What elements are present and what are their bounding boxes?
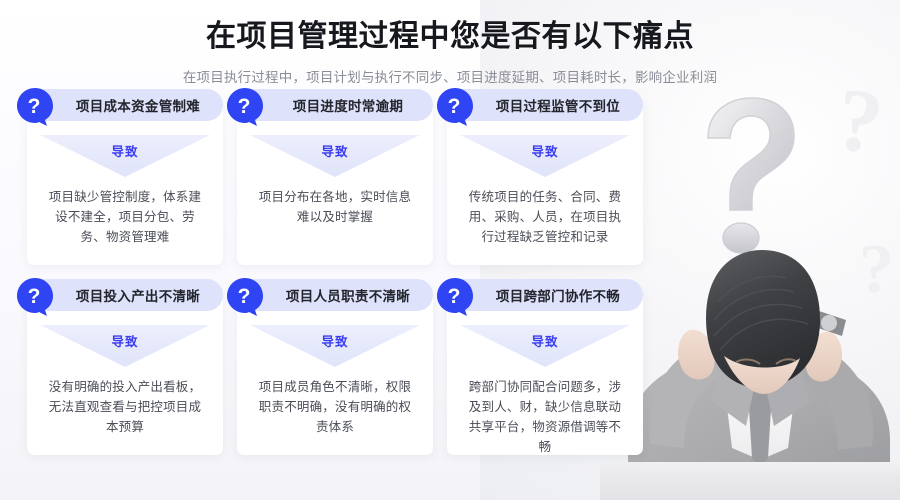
cause-connector: 导致 bbox=[460, 325, 630, 367]
card-body-text: 项目分布在各地，实时信息难以及时掌握 bbox=[253, 187, 417, 227]
page-subtitle: 在项目执行过程中，项目计划与执行不同步、项目进度延期、项目耗时长，影响企业利润 bbox=[0, 66, 900, 86]
cause-connector: 导致 bbox=[250, 135, 420, 177]
card-body-text: 跨部门协同配合问题多，涉及到人、财，缺少信息联动共享平台，物资源借调等不畅 bbox=[463, 377, 627, 457]
question-mark-bubble-icon: ? bbox=[224, 275, 266, 317]
card-title: 项目成本资金管制难 bbox=[27, 89, 223, 121]
header: 在项目管理过程中您是否有以下痛点 在项目执行过程中，项目计划与执行不同步、项目进… bbox=[0, 0, 900, 86]
page-title: 在项目管理过程中您是否有以下痛点 bbox=[0, 11, 900, 55]
card-header: 项目过程监管不到位 ? bbox=[434, 89, 643, 123]
card-body-text: 传统项目的任务、合同、费用、采购、人员，在项目执行过程缺乏管控和记录 bbox=[463, 187, 627, 247]
cause-connector: 导致 bbox=[250, 325, 420, 367]
cause-connector: 导致 bbox=[40, 135, 210, 177]
question-mark-bubble-icon: ? bbox=[434, 85, 476, 127]
cause-label: 导致 bbox=[250, 331, 420, 350]
card-body-text: 没有明确的投入产出看板，无法直观查看与把控项目成本预算 bbox=[43, 377, 207, 437]
card-title: 项目过程监管不到位 bbox=[447, 89, 643, 121]
question-mark-bubble-icon: ? bbox=[14, 85, 56, 127]
svg-text:?: ? bbox=[28, 285, 41, 308]
cause-label: 导致 bbox=[460, 141, 630, 160]
cause-connector: 导致 bbox=[40, 325, 210, 367]
desk-surface bbox=[600, 462, 900, 500]
pain-point-card-grid: 项目成本资金管制难 ? 导致 项目缺少管控制度，体系建设不建全，项目分包、劳务、… bbox=[27, 97, 647, 455]
card-title: 项目人员职责不清晰 bbox=[237, 279, 433, 311]
card-body-text: 项目成员角色不清晰，权限职责不明确，没有明确的权责体系 bbox=[253, 377, 417, 437]
svg-text:?: ? bbox=[28, 95, 41, 118]
cause-label: 导致 bbox=[40, 331, 210, 350]
card-header: 项目人员职责不清晰 ? bbox=[224, 279, 433, 313]
pain-point-card[interactable]: 项目跨部门协作不畅 ? 导致 跨部门协同配合问题多，涉及到人、财，缺少信息联动共… bbox=[447, 287, 643, 455]
card-header: 项目进度时常逾期 ? bbox=[224, 89, 433, 123]
cause-label: 导致 bbox=[40, 141, 210, 160]
pain-point-card[interactable]: 项目成本资金管制难 ? 导致 项目缺少管控制度，体系建设不建全，项目分包、劳务、… bbox=[27, 97, 223, 265]
card-title: 项目进度时常逾期 bbox=[237, 89, 433, 121]
card-header: 项目跨部门协作不畅 ? bbox=[434, 279, 643, 313]
svg-text:?: ? bbox=[448, 285, 461, 308]
cause-label: 导致 bbox=[460, 331, 630, 350]
card-title: 项目投入产出不清晰 bbox=[27, 279, 223, 311]
large-question-mark-icon bbox=[690, 90, 810, 270]
svg-text:?: ? bbox=[448, 95, 461, 118]
pain-point-card[interactable]: 项目过程监管不到位 ? 导致 传统项目的任务、合同、费用、采购、人员，在项目执行… bbox=[447, 97, 643, 265]
svg-text:?: ? bbox=[238, 95, 251, 118]
card-header: 项目成本资金管制难 ? bbox=[14, 89, 223, 123]
question-mark-bubble-icon: ? bbox=[224, 85, 266, 127]
question-mark-bubble-icon: ? bbox=[14, 275, 56, 317]
cause-label: 导致 bbox=[250, 141, 420, 160]
pain-point-card[interactable]: 项目人员职责不清晰 ? 导致 项目成员角色不清晰，权限职责不明确，没有明确的权责… bbox=[237, 287, 433, 455]
question-mark-bubble-icon: ? bbox=[434, 275, 476, 317]
pain-point-card[interactable]: 项目进度时常逾期 ? 导致 项目分布在各地，实时信息难以及时掌握 bbox=[237, 97, 433, 265]
card-title: 项目跨部门协作不畅 bbox=[447, 279, 643, 311]
pain-point-card[interactable]: 项目投入产出不清晰 ? 导致 没有明确的投入产出看板，无法直观查看与把控项目成本… bbox=[27, 287, 223, 455]
card-header: 项目投入产出不清晰 ? bbox=[14, 279, 223, 313]
svg-text:?: ? bbox=[238, 285, 251, 308]
card-body-text: 项目缺少管控制度，体系建设不建全，项目分包、劳务、物资管理难 bbox=[43, 187, 207, 247]
cause-connector: 导致 bbox=[460, 135, 630, 177]
